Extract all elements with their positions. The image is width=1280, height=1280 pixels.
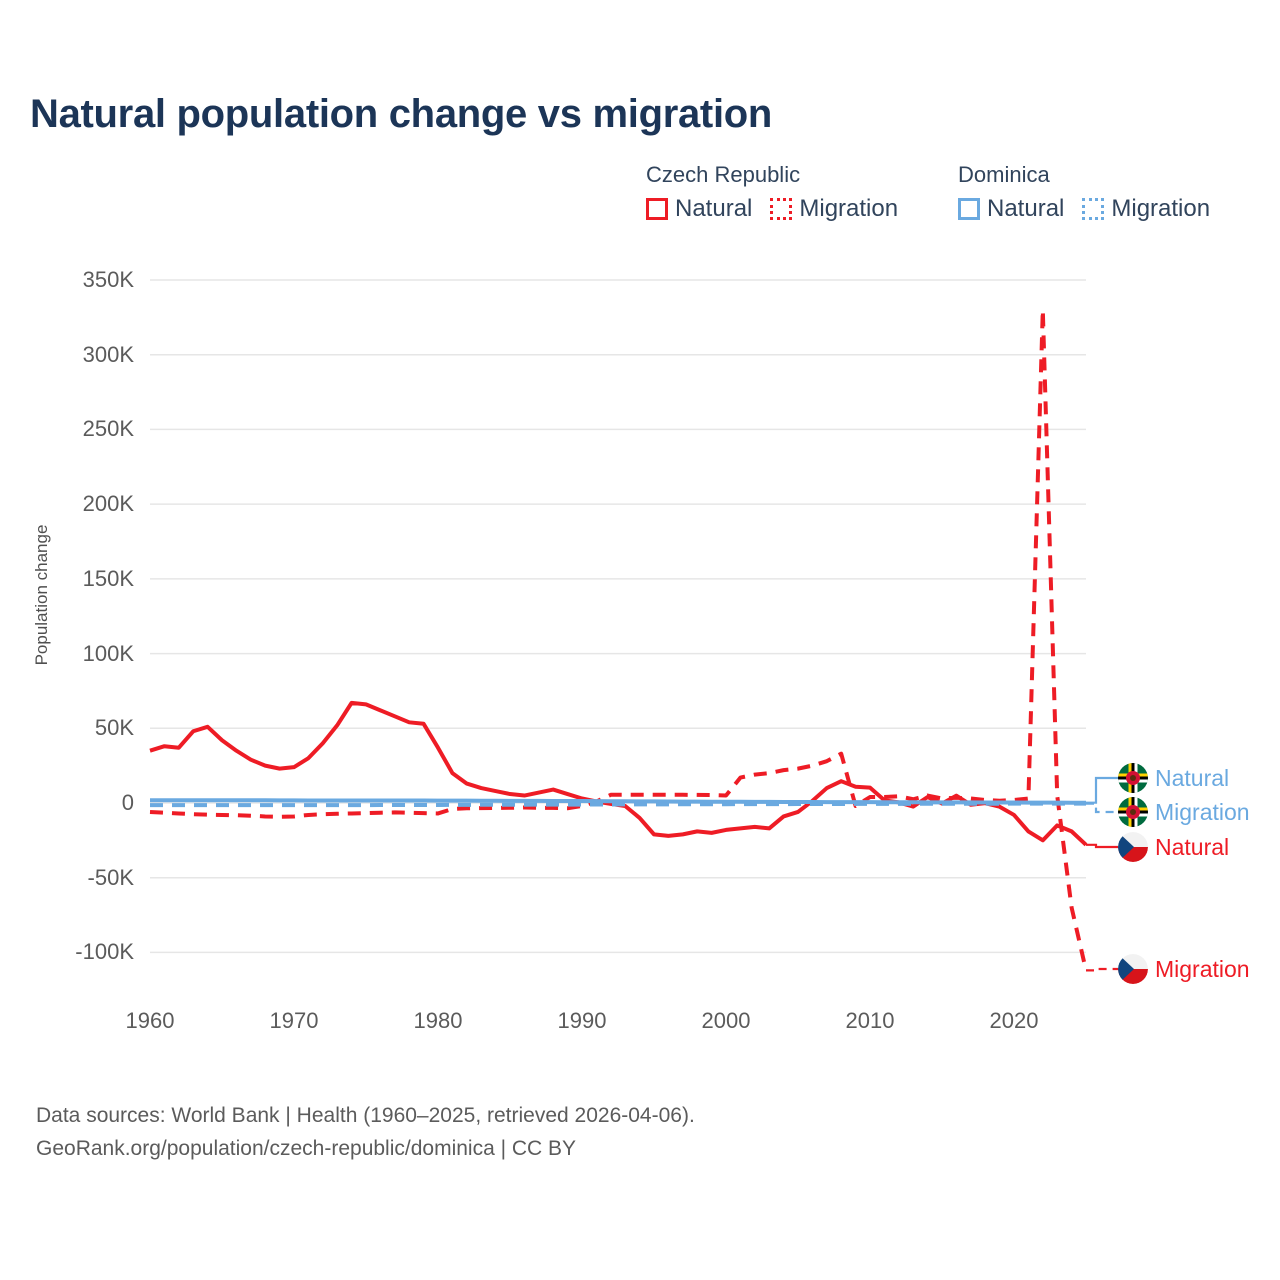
- y-tick-label: 100K: [14, 641, 134, 667]
- end-label-czech-republic-migration[interactable]: Migration: [1118, 954, 1250, 984]
- dominica-flag-icon: [1118, 797, 1148, 827]
- gridlines: [150, 280, 1086, 952]
- series-czech-republic-natural: [150, 703, 1086, 845]
- y-tick-label: 350K: [14, 267, 134, 293]
- czech-flag-icon: [1118, 832, 1148, 862]
- leader-lines: [1086, 778, 1118, 970]
- y-tick-label: 0: [14, 790, 134, 816]
- leader-line: [1086, 778, 1118, 803]
- y-tick-label: 200K: [14, 491, 134, 517]
- leader-line: [1086, 969, 1118, 970]
- leader-line: [1086, 845, 1118, 847]
- x-tick-label: 1990: [522, 1008, 642, 1034]
- end-label-text: Natural: [1155, 765, 1229, 792]
- x-tick-label: 1970: [234, 1008, 354, 1034]
- x-tick-label: 2010: [810, 1008, 930, 1034]
- x-tick-label: 2000: [666, 1008, 786, 1034]
- chart-canvas: [0, 0, 1280, 1280]
- series-czech-republic-migration: [150, 310, 1086, 970]
- dominica-flag-icon: [1118, 763, 1148, 793]
- end-label-text: Migration: [1155, 956, 1250, 983]
- y-tick-label: 50K: [14, 715, 134, 741]
- footer-data-sources: Data sources: World Bank | Health (1960–…: [36, 1100, 695, 1133]
- y-tick-label: -50K: [14, 865, 134, 891]
- leader-line: [1086, 804, 1118, 812]
- end-label-dominica-natural[interactable]: Natural: [1118, 763, 1229, 793]
- footer-attribution: GeoRank.org/population/czech-republic/do…: [36, 1133, 695, 1166]
- chart-page: Natural population change vs migration C…: [0, 0, 1280, 1280]
- x-tick-label: 1980: [378, 1008, 498, 1034]
- end-label-dominica-migration[interactable]: Migration: [1118, 797, 1250, 827]
- y-tick-label: 250K: [14, 416, 134, 442]
- end-label-text: Natural: [1155, 834, 1229, 861]
- series-dominica-migration: [150, 804, 1086, 805]
- footer: Data sources: World Bank | Health (1960–…: [36, 1100, 695, 1165]
- x-tick-label: 2020: [954, 1008, 1074, 1034]
- series-lines: [150, 310, 1086, 970]
- plot-area: Population change -100K-50K050K100K150K2…: [0, 0, 1280, 1280]
- y-tick-label: 300K: [14, 342, 134, 368]
- y-tick-label: 150K: [14, 566, 134, 592]
- y-tick-label: -100K: [14, 939, 134, 965]
- czech-flag-icon: [1118, 954, 1148, 984]
- end-label-czech-republic-natural[interactable]: Natural: [1118, 832, 1229, 862]
- x-tick-label: 1960: [90, 1008, 210, 1034]
- end-label-text: Migration: [1155, 799, 1250, 826]
